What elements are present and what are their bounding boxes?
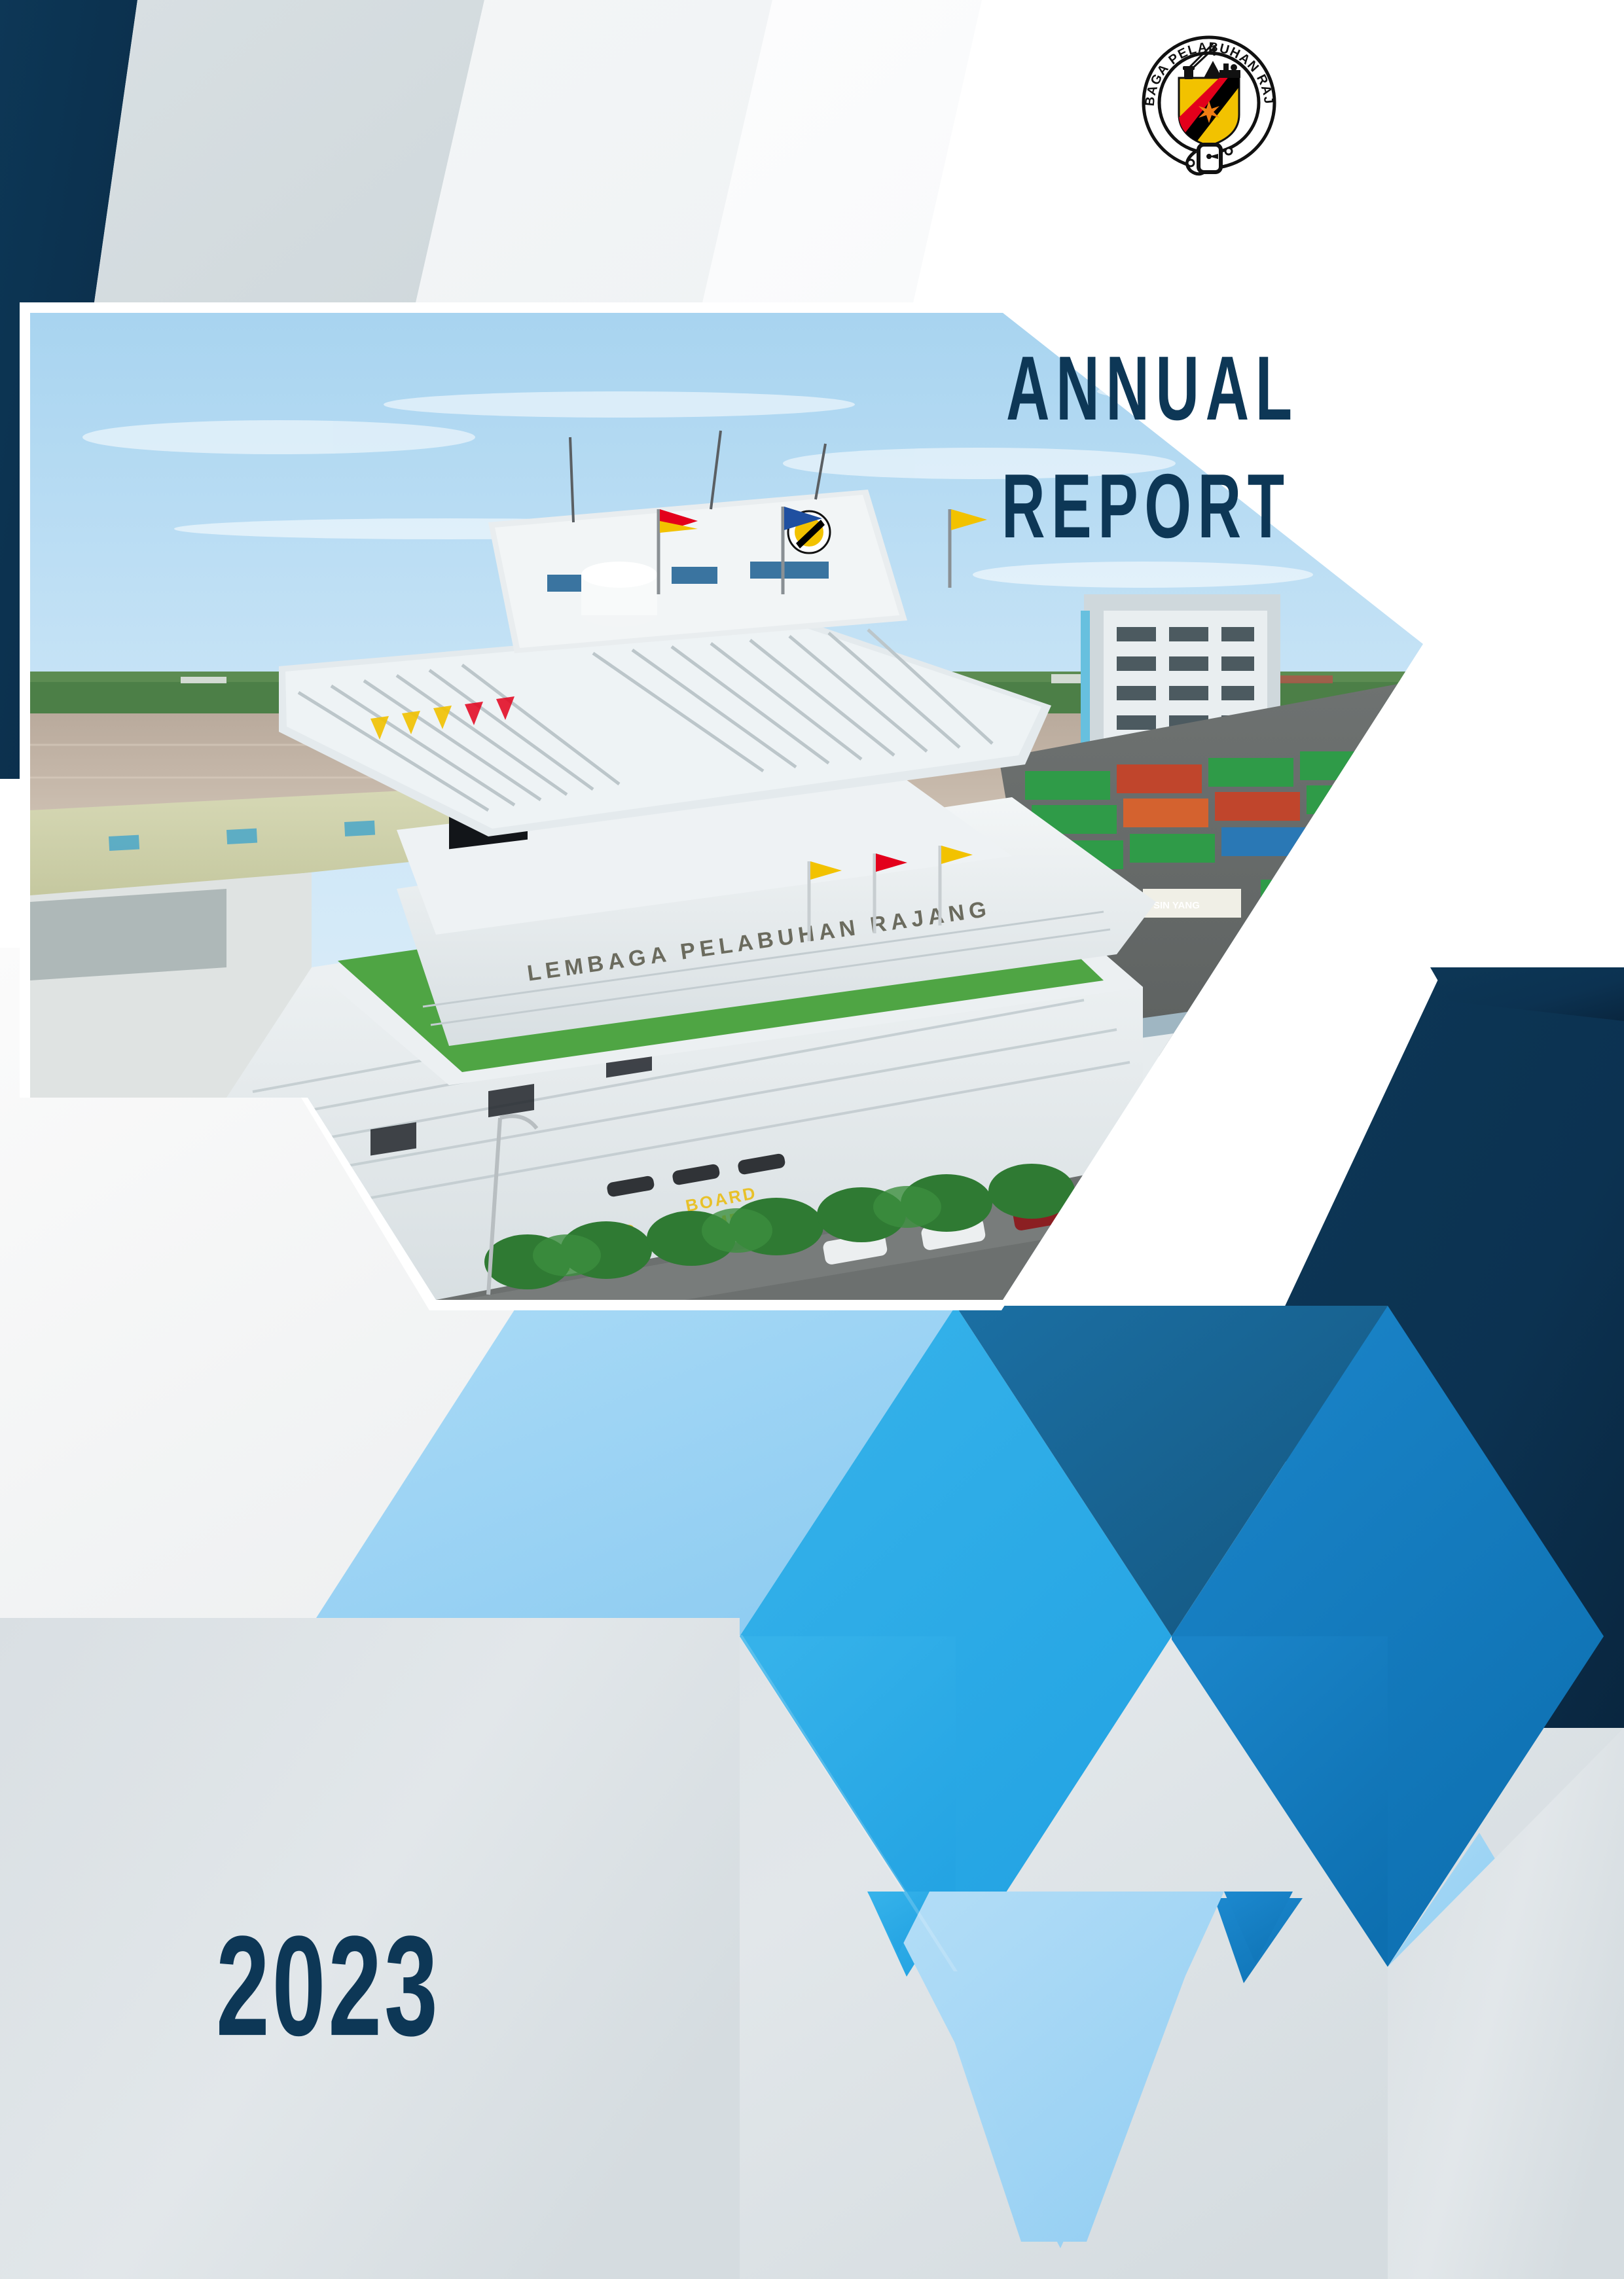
page-title-line-1: ANNUAL — [1006, 344, 1299, 435]
annual-report-cover-page: SIN YANG SIN YANG — [0, 0, 1624, 2279]
page-title-line-2: REPORT — [1001, 461, 1291, 552]
organisation-logo: LEMBAGA PELABUHAN RAJANG — [1136, 29, 1283, 177]
report-year: 2023 — [216, 1914, 441, 2057]
svg-text:SIN YANG: SIN YANG — [1153, 900, 1200, 911]
